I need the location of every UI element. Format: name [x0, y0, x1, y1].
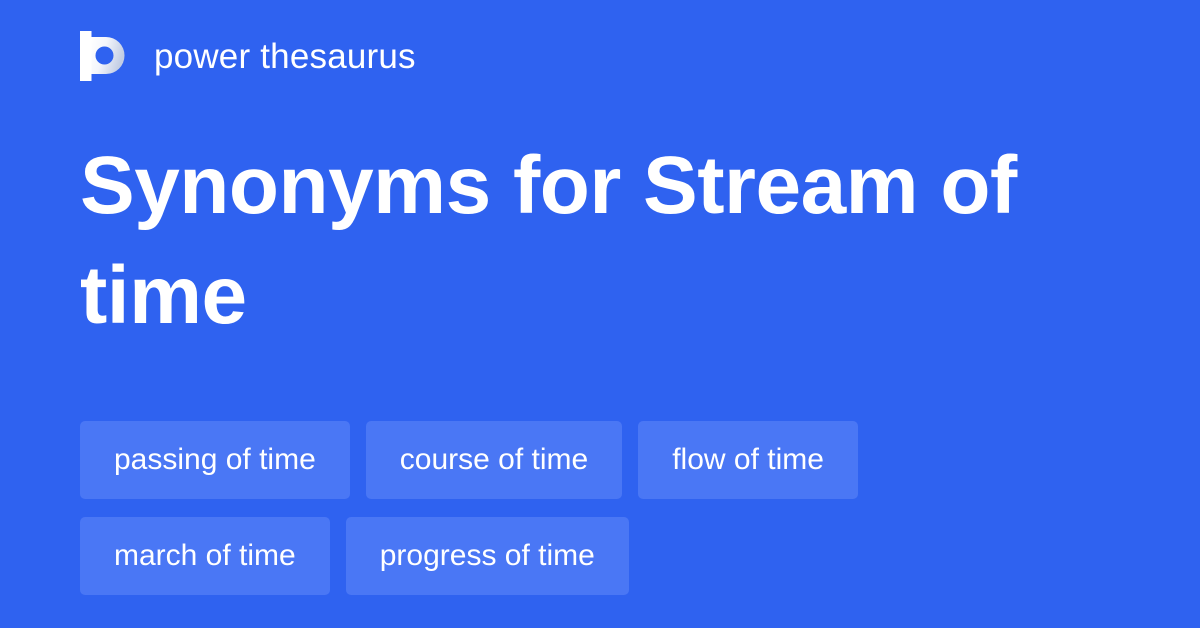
- synonym-chip[interactable]: progress of time: [346, 517, 629, 595]
- brand-name: power thesaurus: [154, 39, 416, 74]
- synonym-chip[interactable]: passing of time: [80, 421, 350, 499]
- brand-logo[interactable]: power thesaurus: [80, 28, 416, 84]
- synonym-chip[interactable]: march of time: [80, 517, 330, 595]
- page-title: Synonyms for Stream of time: [80, 131, 1080, 351]
- synonym-chip[interactable]: course of time: [366, 421, 622, 499]
- synonym-chip-list: passing of time course of time flow of t…: [80, 421, 1120, 595]
- synonym-chip[interactable]: flow of time: [638, 421, 858, 499]
- power-thesaurus-b-logo-icon: [80, 31, 128, 81]
- og-card: power thesaurus Synonyms for Stream of t…: [0, 0, 1200, 628]
